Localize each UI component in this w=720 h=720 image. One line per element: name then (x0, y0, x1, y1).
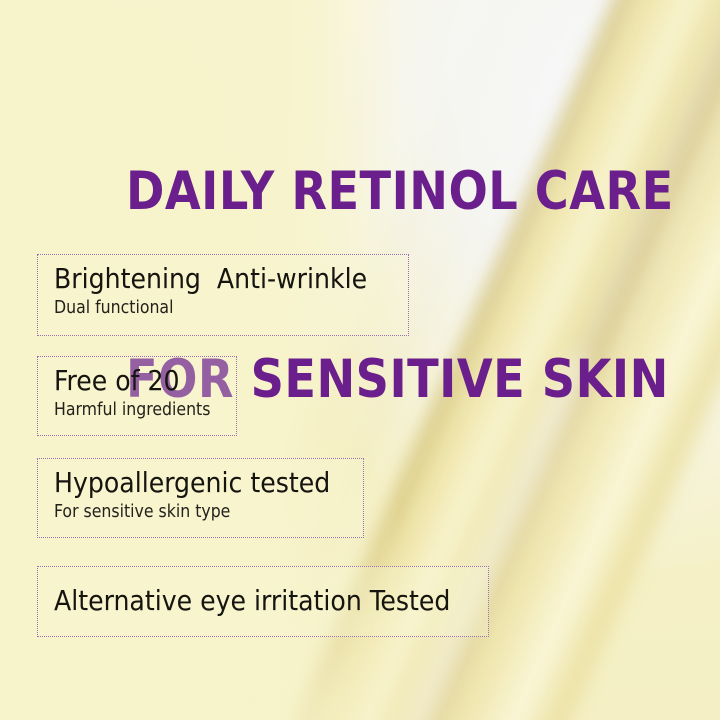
feature-box-brightening-anti-wrinkle: Brightening Anti-wrinkle Dual functional (37, 254, 409, 336)
feature-box-hypoallergenic-tested: Hypoallergenic tested For sensitive skin… (37, 458, 364, 538)
feature-subtitle: Dual functional (54, 297, 396, 320)
feature-title: Hypoallergenic tested (54, 466, 351, 499)
feature-box-free-of-20: Free of 20 Harmful ingredients (37, 356, 237, 436)
feature-title: Free of 20 (54, 364, 224, 397)
feature-title: Brightening Anti-wrinkle (54, 262, 396, 295)
feature-subtitle: For sensitive skin type (54, 501, 351, 524)
feature-title: Alternative eye irritation Tested (54, 584, 450, 617)
feature-subtitle: Harmful ingredients (54, 399, 224, 422)
page-title-line-1: DAILY RETINOL CARE (126, 161, 669, 224)
feature-box-eye-irritation-tested: Alternative eye irritation Tested (37, 566, 489, 637)
product-banner: DAILY RETINOL CARE FOR SENSITIVE SKIN Br… (0, 0, 720, 720)
